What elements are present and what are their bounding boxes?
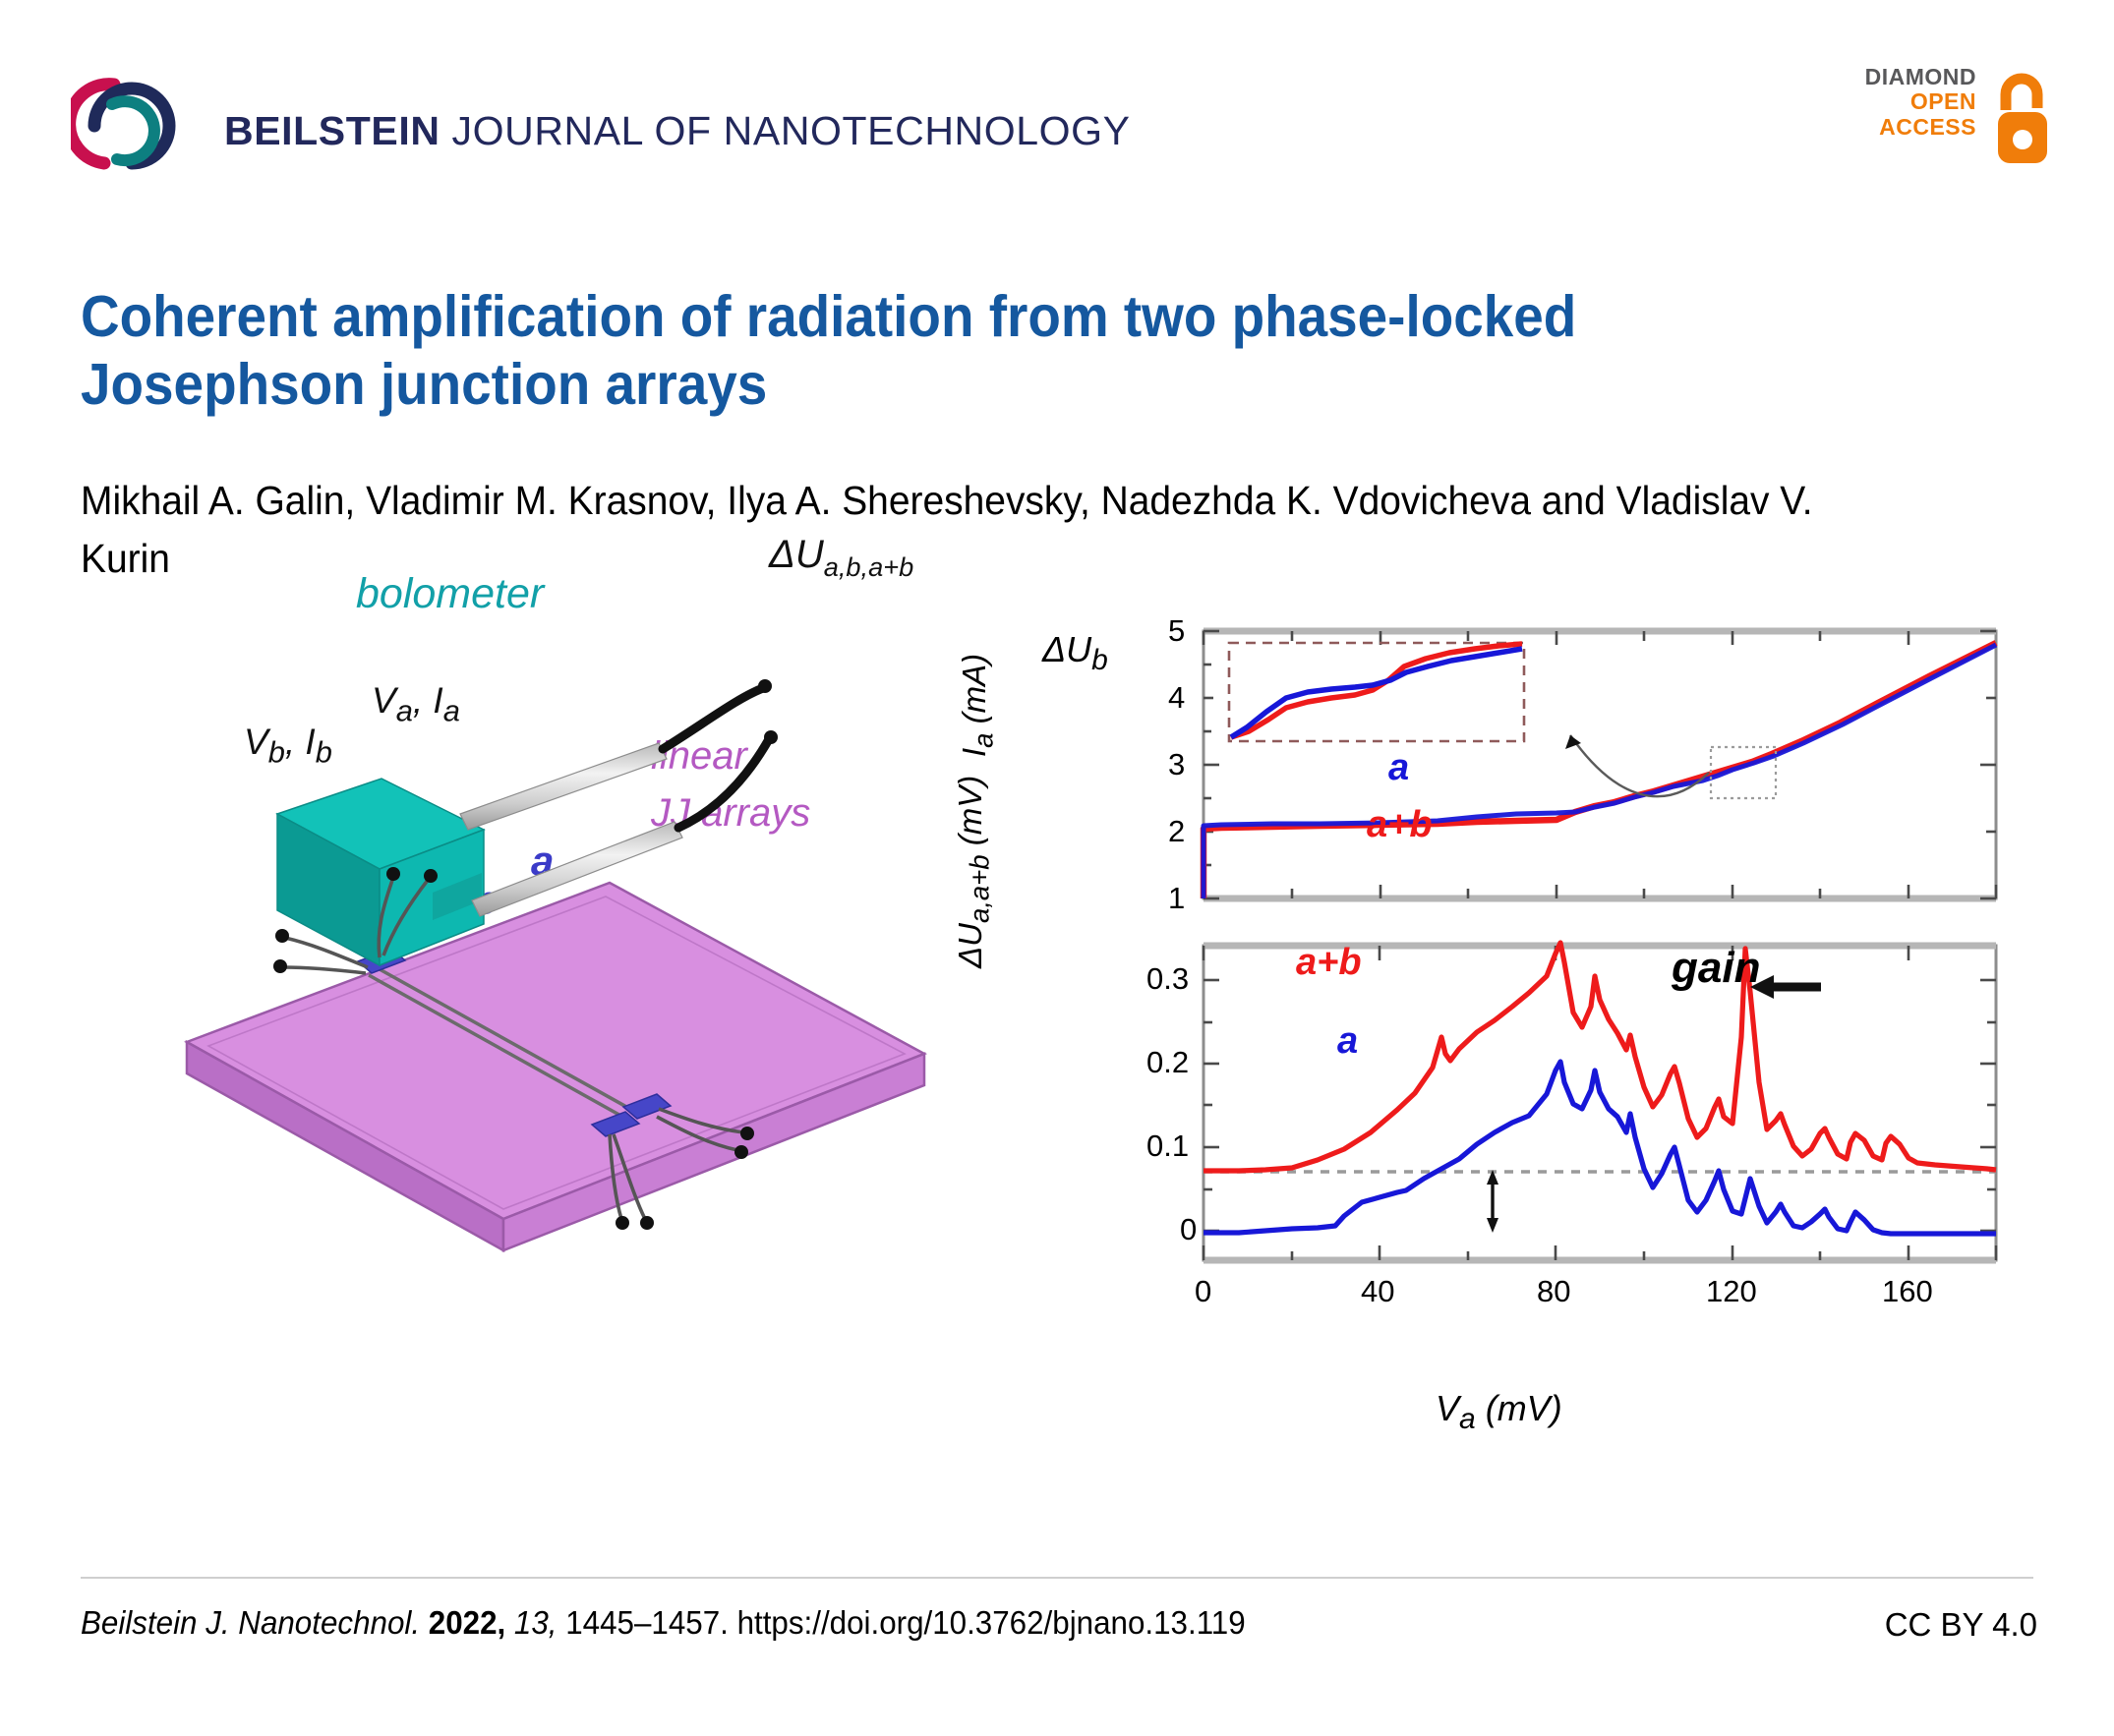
iv-chart: 5 4 3 2 1 [1152, 619, 2037, 924]
footer-volume: 13, [505, 1604, 557, 1641]
footer-journal-name: Beilstein J. Nanotechnol. [81, 1604, 420, 1641]
delta-u-label: ΔUa,b,a+b [769, 533, 913, 583]
oa-open-label: OPEN [1865, 89, 1976, 114]
iv-ytick-3: 3 [1168, 747, 1185, 782]
emission-chart-ylabel: ΔUa,a+b (mV) [952, 776, 996, 968]
bolometer-leads [460, 679, 778, 916]
emission-ytick-02: 0.2 [1146, 1045, 1189, 1080]
device-schematic: bolometer linear JJ arrays ΔUa,b,a+b Va,… [147, 629, 1121, 1543]
masthead-journal-title: BEILSTEIN JOURNAL OF NANOTECHNOLOGY [224, 108, 1131, 154]
emission-xtick-120: 120 [1706, 1274, 1757, 1309]
open-access-badge: DIAMOND OPEN ACCESS [1896, 65, 2053, 175]
footer-divider [81, 1577, 2033, 1579]
emission-ytick-0: 0 [1180, 1212, 1197, 1247]
iv-chart-svg [1152, 619, 2037, 924]
delta-u-subscript: a,b,a+b [824, 551, 913, 582]
footer-license: CC BY 4.0 [1885, 1606, 2037, 1644]
emission-series-label-ab: a+b [1296, 942, 1362, 984]
iv-series-label-a: a [1388, 747, 1409, 789]
oa-access-label: ACCESS [1865, 115, 1976, 140]
iv-ytick-1: 1 [1168, 881, 1185, 916]
delta-u-symbol: ΔU [769, 533, 824, 576]
emission-xtick-80: 80 [1537, 1274, 1570, 1309]
delta-ub-arrow [1487, 1170, 1498, 1233]
emission-ytick-03: 0.3 [1146, 961, 1189, 997]
emission-ytick-01: 0.1 [1146, 1128, 1189, 1164]
emission-xtick-40: 40 [1361, 1274, 1394, 1309]
emission-chart-xlabel: Va (mV) [1436, 1388, 1562, 1436]
gain-arrow-icon [1750, 975, 1821, 999]
graphical-abstract-figure: bolometer linear JJ arrays ΔUa,b,a+b Va,… [59, 629, 2055, 1543]
iv-inset [1229, 643, 1524, 741]
open-lock-icon [1992, 69, 2053, 172]
masthead-brand-bold: BEILSTEIN [224, 108, 440, 153]
oa-diamond-label: DIAMOND [1865, 65, 1976, 89]
measurement-charts: Ia (mA) [1042, 629, 2055, 1543]
masthead-brand-rest: JOURNAL OF NANOTECHNOLOGY [440, 108, 1131, 153]
iv-ytick-5: 5 [1168, 613, 1185, 649]
iv-ytick-2: 2 [1168, 814, 1185, 849]
footer-citation: Beilstein J. Nanotechnol. 2022, 13, 1445… [81, 1604, 1246, 1642]
article-title: Coherent amplification of radiation from… [81, 283, 1864, 419]
beilstein-spiral-logo-icon [71, 61, 187, 177]
emission-series-label-a: a [1337, 1020, 1358, 1063]
emission-xtick-0: 0 [1195, 1274, 1211, 1309]
bolometer-label: bolometer [356, 570, 544, 618]
schematic-drawing [147, 629, 1121, 1543]
emission-xtick-160: 160 [1882, 1274, 1933, 1309]
iv-chart-ylabel: Ia (mA) [956, 654, 1000, 757]
gain-annotation-label: gain [1672, 944, 1760, 993]
iv-ytick-4: 4 [1168, 680, 1185, 716]
article-authors: Mikhail A. Galin, Vladimir M. Krasnov, I… [81, 472, 1903, 589]
emission-chart: 0.3 0.2 0.1 0 0 40 80 120 160 [1152, 936, 2037, 1349]
masthead: BEILSTEIN JOURNAL OF NANOTECHNOLOGY DIAM… [0, 0, 2114, 187]
iv-series-label-ab: a+b [1367, 804, 1433, 846]
footer-year: 2022, [420, 1604, 505, 1641]
footer-pages-doi: 1445–1457. https://doi.org/10.3762/bjnan… [558, 1604, 1246, 1641]
